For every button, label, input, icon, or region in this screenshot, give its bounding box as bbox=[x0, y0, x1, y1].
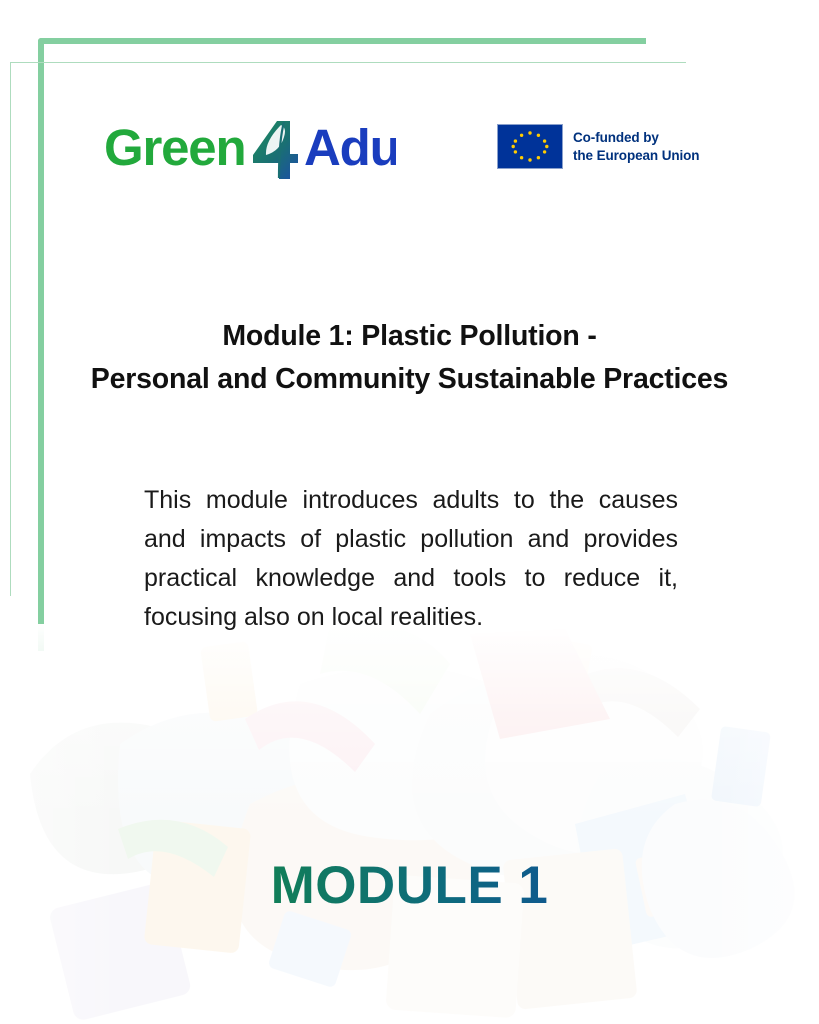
header: Green Adu bbox=[0, 110, 819, 190]
co-funded-eu-badge[interactable]: Co-funded bythe European Union bbox=[497, 124, 699, 169]
green4adu-logo[interactable]: Green Adu bbox=[104, 110, 396, 190]
page-title-line-1: Module 1: Plastic Pollution - bbox=[0, 315, 819, 358]
module-description: This module introduces adults to the cau… bbox=[144, 481, 678, 637]
eu-flag-icon bbox=[497, 124, 563, 169]
eu-badge-line1: Co-funded by bbox=[573, 130, 659, 145]
page-title-line-2: Personal and Community Sustainable Pract… bbox=[0, 358, 819, 401]
background-artwork bbox=[0, 624, 819, 1024]
slide-page: Green Adu bbox=[0, 0, 819, 1024]
module-wordmark: MODULE 1 bbox=[0, 855, 819, 916]
svg-text:Green: Green bbox=[104, 119, 245, 176]
page-title: Module 1: Plastic Pollution - Personal a… bbox=[0, 315, 819, 402]
eu-badge-line2: the European Union bbox=[573, 148, 699, 163]
eu-badge-text: Co-funded bythe European Union bbox=[573, 129, 699, 164]
svg-text:Adu: Adu bbox=[304, 119, 396, 176]
